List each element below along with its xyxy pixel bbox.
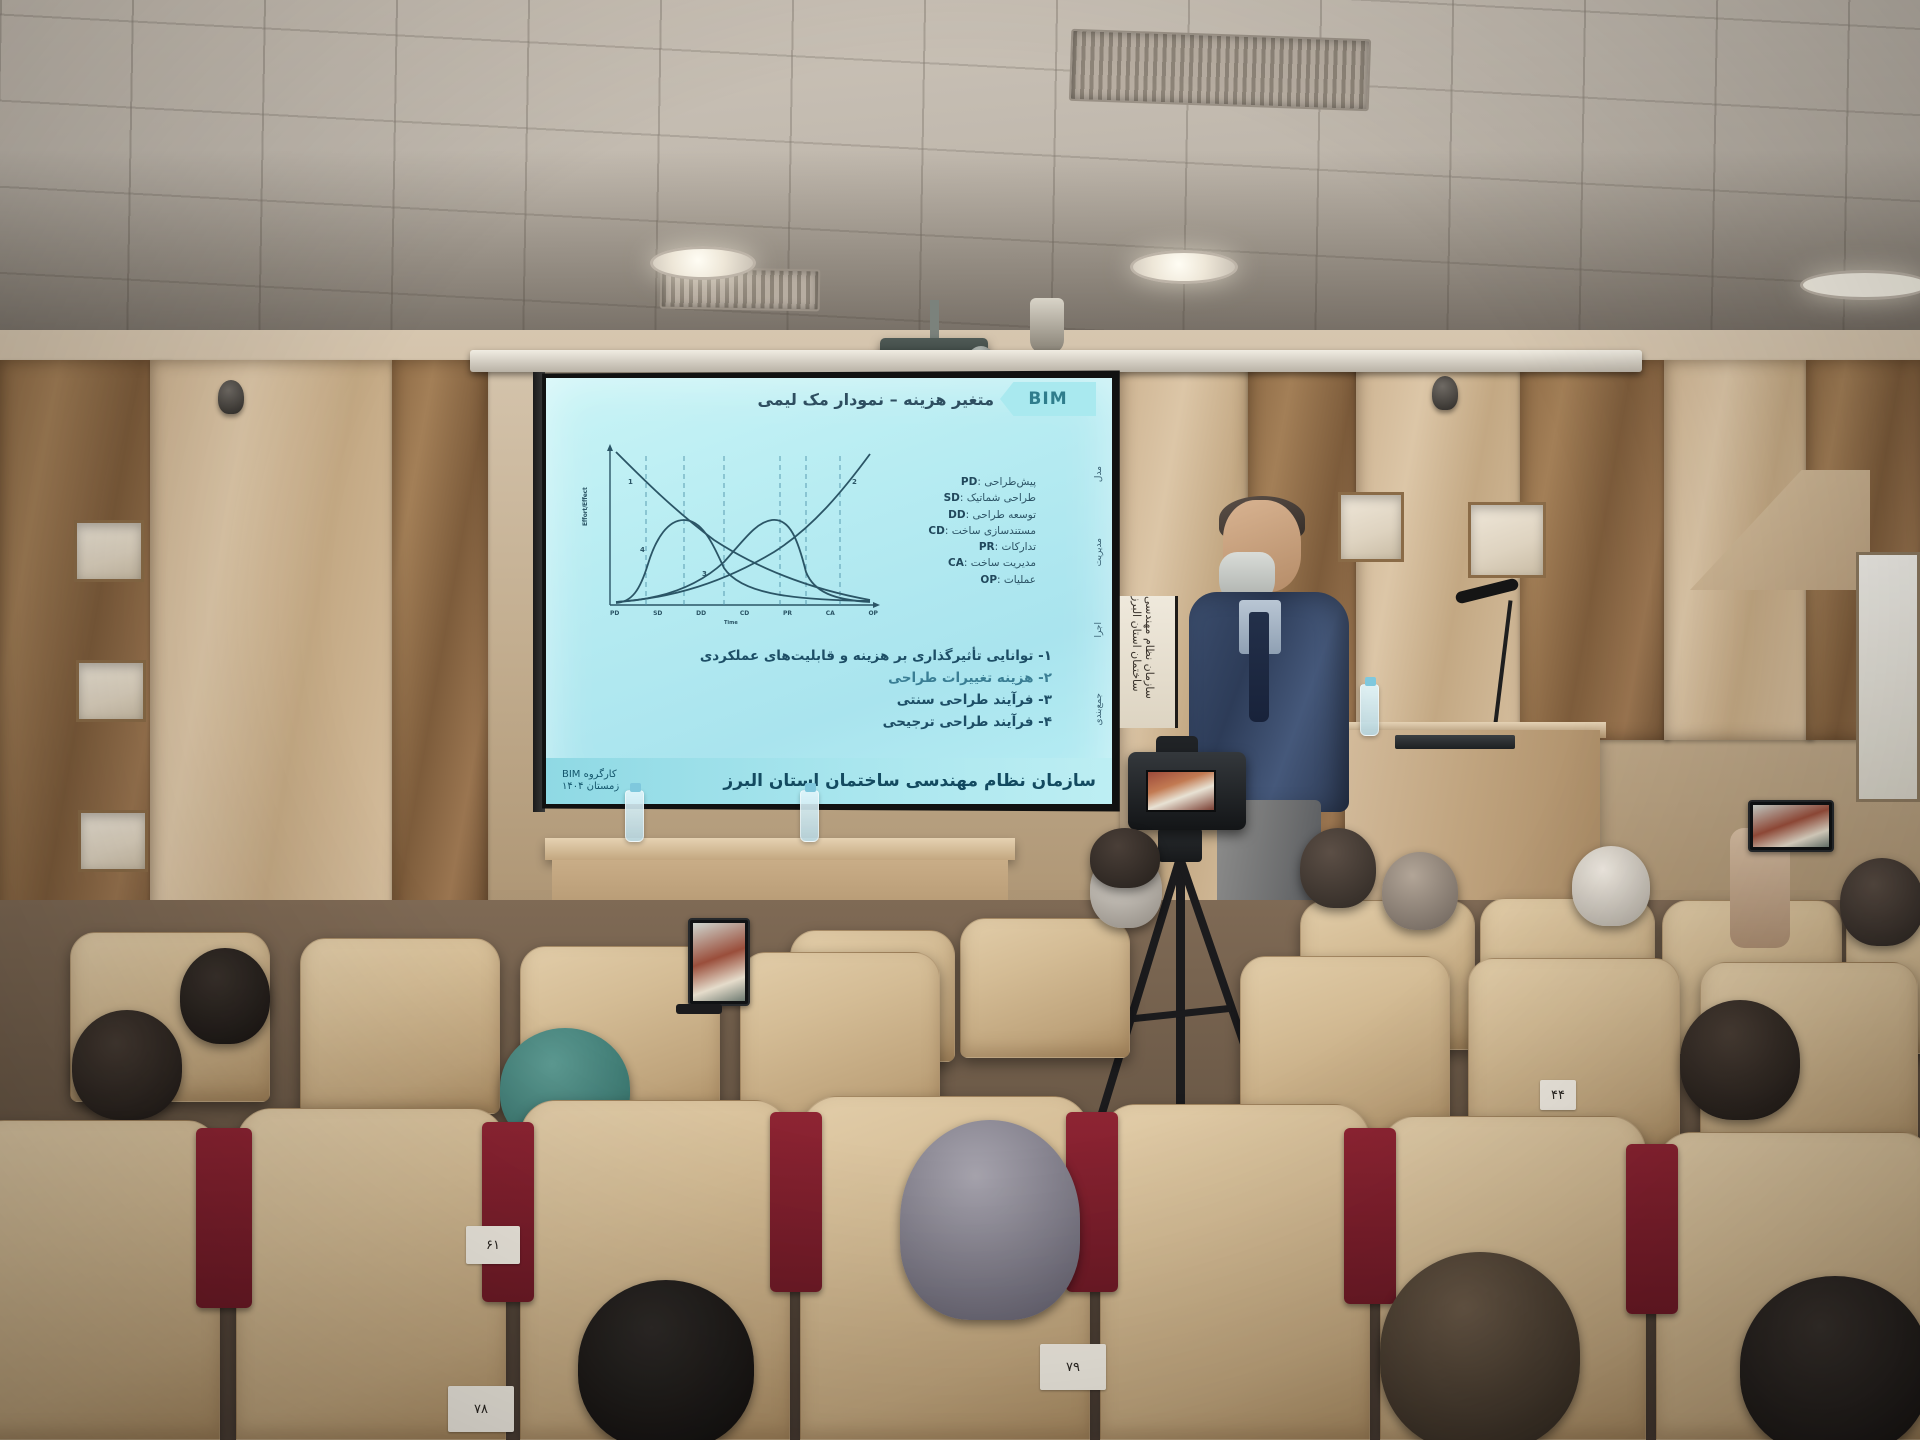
audience-head bbox=[1090, 828, 1160, 888]
slide-bullet-list: ۱- توانایی تأثیرگذاری بر هزینه و قابلیت‌… bbox=[700, 646, 1052, 733]
phone-holder bbox=[676, 1004, 722, 1014]
smartphone-screen bbox=[693, 923, 745, 1001]
seat[interactable] bbox=[1100, 1104, 1370, 1440]
section-tab: مدل bbox=[1094, 466, 1104, 482]
legend-code: SD bbox=[944, 490, 960, 506]
whiteboard bbox=[1856, 552, 1920, 802]
ceiling-speaker-icon bbox=[1030, 298, 1064, 354]
legend-code: OP bbox=[980, 572, 997, 588]
seat[interactable] bbox=[0, 1120, 220, 1440]
audience-head bbox=[1300, 828, 1376, 908]
svg-text:1: 1 bbox=[628, 478, 633, 486]
wall-niche bbox=[76, 660, 146, 722]
slide-title: متغیر هزینه – نمودار مک لیمی bbox=[757, 390, 994, 409]
footer-season: زمستان ۱۴۰۴ bbox=[562, 781, 619, 794]
legend-item: پیش‌طراحی :PD bbox=[928, 474, 1036, 490]
projection-screen-housing bbox=[470, 350, 1642, 372]
legend-item: تدارکات :PR bbox=[928, 539, 1036, 555]
tripod-head bbox=[1158, 828, 1202, 862]
legend-code: PR bbox=[979, 539, 995, 555]
legend-item: طراحی شماتیک :SD bbox=[928, 490, 1036, 506]
smartphone[interactable] bbox=[688, 918, 750, 1006]
seat-number-tag: ۷۹ bbox=[1040, 1344, 1106, 1390]
audience-head-beanie bbox=[900, 1120, 1080, 1320]
section-tab: مدیریت bbox=[1094, 538, 1104, 566]
legend-label: طراحی شماتیک bbox=[967, 492, 1036, 504]
footer-group: کارگروه BIM bbox=[562, 769, 619, 782]
seat-number-tag: ۷۸ bbox=[448, 1386, 514, 1432]
seat-number-tag: ۶۱ bbox=[466, 1226, 520, 1264]
legend-item: عملیات :OP bbox=[928, 572, 1036, 588]
section-tab: اجرا bbox=[1094, 622, 1104, 638]
seat[interactable] bbox=[960, 918, 1130, 1058]
legend-item: مدیریت ساخت :CA bbox=[928, 555, 1036, 571]
water-bottle bbox=[625, 790, 644, 842]
projection-screen: متغیر هزینه – نمودار مک لیمی BIM bbox=[546, 378, 1112, 804]
chart-svg: 1 2 3 4 bbox=[584, 440, 884, 630]
legend-label: عملیات bbox=[1004, 574, 1036, 586]
audience-head bbox=[1680, 1000, 1800, 1120]
svg-text:3: 3 bbox=[702, 570, 707, 578]
audience-head bbox=[72, 1010, 182, 1120]
presentation-slide: متغیر هزینه – نمودار مک لیمی BIM bbox=[546, 378, 1112, 804]
chart-x-axis-label: Time bbox=[724, 620, 738, 626]
smartphone-screen bbox=[1753, 805, 1829, 847]
seat[interactable] bbox=[300, 938, 500, 1114]
footer-meta: کارگروه BIM زمستان ۱۴۰۴ bbox=[562, 769, 619, 794]
security-camera-icon bbox=[1432, 376, 1458, 410]
slide-section-tabs: مدل مدیریت اجرا جمع‌بندی bbox=[1094, 466, 1104, 726]
seat-armrest bbox=[770, 1112, 822, 1292]
wall-niche bbox=[74, 520, 144, 582]
footer-organization: سازمان نظام مهندسی ساختمان استان البرز bbox=[723, 771, 1096, 791]
x-tick: OP bbox=[868, 610, 878, 617]
water-bottle bbox=[1360, 684, 1379, 736]
seat-armrest bbox=[1344, 1128, 1396, 1304]
audience-head bbox=[1840, 858, 1920, 946]
x-tick: PR bbox=[783, 610, 792, 617]
bullet-item: ۲- هزینه تغییرات طراحی bbox=[700, 668, 1052, 690]
legend-label: مستندسازی ساخت bbox=[952, 525, 1036, 537]
seat-armrest bbox=[482, 1122, 534, 1302]
x-tick: DD bbox=[696, 610, 706, 617]
legend-item: توسعه طراحی :DD bbox=[928, 507, 1036, 523]
bim-brand-tag: BIM bbox=[1000, 382, 1096, 416]
x-tick: PD bbox=[610, 610, 619, 617]
legend-code: CD bbox=[928, 523, 944, 539]
ceiling-light-icon bbox=[650, 246, 756, 280]
macleamy-chart: 1 2 3 4 Effort/Effect PD SD DD CD bbox=[584, 440, 884, 630]
section-tab: جمع‌بندی bbox=[1094, 693, 1104, 726]
seat-armrest bbox=[1626, 1144, 1678, 1314]
presenter-tie bbox=[1249, 612, 1269, 722]
camera-lcd-screen[interactable] bbox=[1146, 770, 1216, 812]
legend-code: PD bbox=[961, 474, 977, 490]
wall-niche bbox=[78, 810, 148, 872]
ceiling bbox=[0, 0, 1920, 360]
front-table-top bbox=[545, 838, 1015, 860]
legend-label: تدارکات bbox=[1001, 541, 1036, 553]
water-bottle bbox=[800, 790, 819, 842]
auditorium-scene: سازمان نظام مهندسی ساختمان استان البرز م… bbox=[0, 0, 1920, 1440]
wall-niche bbox=[1468, 502, 1546, 578]
slide-legend: پیش‌طراحی :PD طراحی شماتیک :SD توسعه طرا… bbox=[928, 474, 1036, 588]
wall-panel bbox=[392, 360, 488, 920]
svg-text:4: 4 bbox=[640, 546, 645, 554]
legend-label: توسعه طراحی bbox=[973, 509, 1037, 521]
ceiling-light-icon bbox=[1130, 250, 1238, 284]
laptop[interactable] bbox=[1395, 735, 1515, 749]
chart-y-axis-label: Effort/Effect bbox=[582, 487, 589, 526]
wall-panel bbox=[150, 360, 400, 920]
x-tick: CA bbox=[826, 610, 835, 617]
legend-code: DD bbox=[948, 507, 965, 523]
audience-head bbox=[1572, 846, 1650, 926]
chart-x-tick-labels: PD SD DD CD PR CA OP bbox=[610, 610, 878, 617]
svg-text:2: 2 bbox=[852, 478, 857, 486]
x-tick: SD bbox=[653, 610, 662, 617]
legend-item: مستندسازی ساخت :CD bbox=[928, 523, 1036, 539]
seat-number-tag: ۴۴ bbox=[1540, 1080, 1576, 1110]
ceiling-light-icon bbox=[1800, 270, 1920, 300]
audience-head bbox=[180, 948, 270, 1044]
bullet-item: ۱- توانایی تأثیرگذاری بر هزینه و قابلیت‌… bbox=[700, 646, 1052, 668]
air-vent-icon bbox=[1069, 29, 1371, 111]
audience-head bbox=[578, 1280, 754, 1440]
legend-label: مدیریت ساخت bbox=[971, 557, 1036, 569]
legend-code: CA bbox=[948, 555, 964, 571]
bullet-item: ۴- فرآیند طراحی ترجیحی bbox=[700, 712, 1052, 734]
legend-label: پیش‌طراحی bbox=[984, 476, 1036, 488]
x-tick: CD bbox=[740, 610, 749, 617]
security-camera-icon bbox=[218, 380, 244, 414]
audience-head bbox=[1382, 852, 1458, 930]
audience-head-hat bbox=[1380, 1252, 1580, 1440]
bullet-item: ۳- فرآیند طراحی سنتی bbox=[700, 690, 1052, 712]
smartphone[interactable] bbox=[1748, 800, 1834, 852]
calligraphy-text: سازمان نظام مهندسی ساختمان استان البرز bbox=[1130, 596, 1156, 728]
seat-armrest bbox=[196, 1128, 252, 1308]
